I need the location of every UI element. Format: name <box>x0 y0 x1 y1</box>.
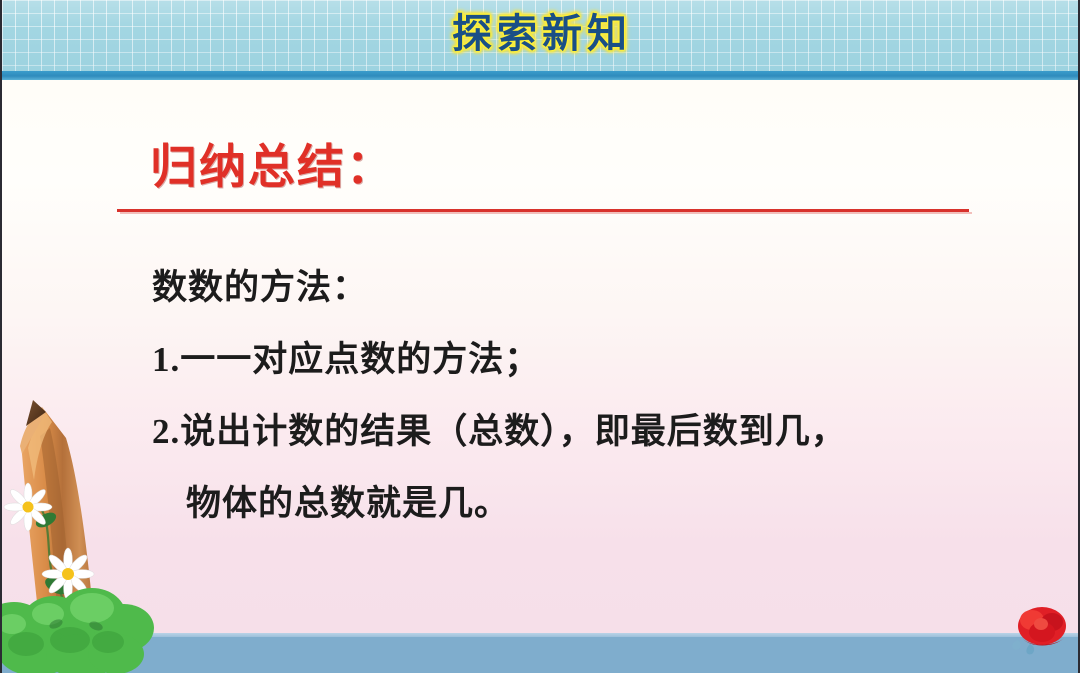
header-divider-bar <box>2 71 1080 80</box>
body-line: 物体的总数就是几。 <box>152 468 1032 540</box>
body-text-block: 数数的方法： 1.一一对应点数的方法； 2.说出计数的结果（总数），即最后数到几… <box>152 252 1032 540</box>
slide-content: 归纳总结： 数数的方法： 1.一一对应点数的方法； 2.说出计数的结果（总数），… <box>2 80 1080 633</box>
daisy-icon <box>42 548 94 600</box>
body-line: 数数的方法： <box>152 252 1032 324</box>
body-line-text: 一一对应点数的方法； <box>180 339 540 380</box>
body-line: 2.说出计数的结果（总数），即最后数到几， <box>152 396 1032 468</box>
body-line-text: 说出计数的结果（总数），即最后数到几， <box>180 411 847 452</box>
daisy-icon <box>2 610 42 633</box>
body-line-number: 2. <box>152 412 180 451</box>
heading-rule-shadow <box>120 212 972 214</box>
body-line-text: 物体的总数就是几。 <box>186 483 510 524</box>
daisy-icon <box>4 483 52 531</box>
footer-top-line <box>2 633 1080 637</box>
slide-footer <box>2 633 1080 673</box>
section-heading: 归纳总结： <box>150 128 395 197</box>
body-line: 1.一一对应点数的方法； <box>152 324 1032 396</box>
page-title: 探索新知 <box>2 4 1080 64</box>
slide-root: 探索新知 归纳总结： 数数的方法： 1.一一对应点数的方法； 2.说出计数的结果… <box>0 0 1080 673</box>
heading-rule <box>117 209 969 212</box>
pencil-icon <box>2 392 132 633</box>
body-line-number: 1. <box>152 340 180 379</box>
slide-header: 探索新知 <box>2 0 1080 71</box>
body-line-text: 数数的方法： <box>152 267 368 308</box>
